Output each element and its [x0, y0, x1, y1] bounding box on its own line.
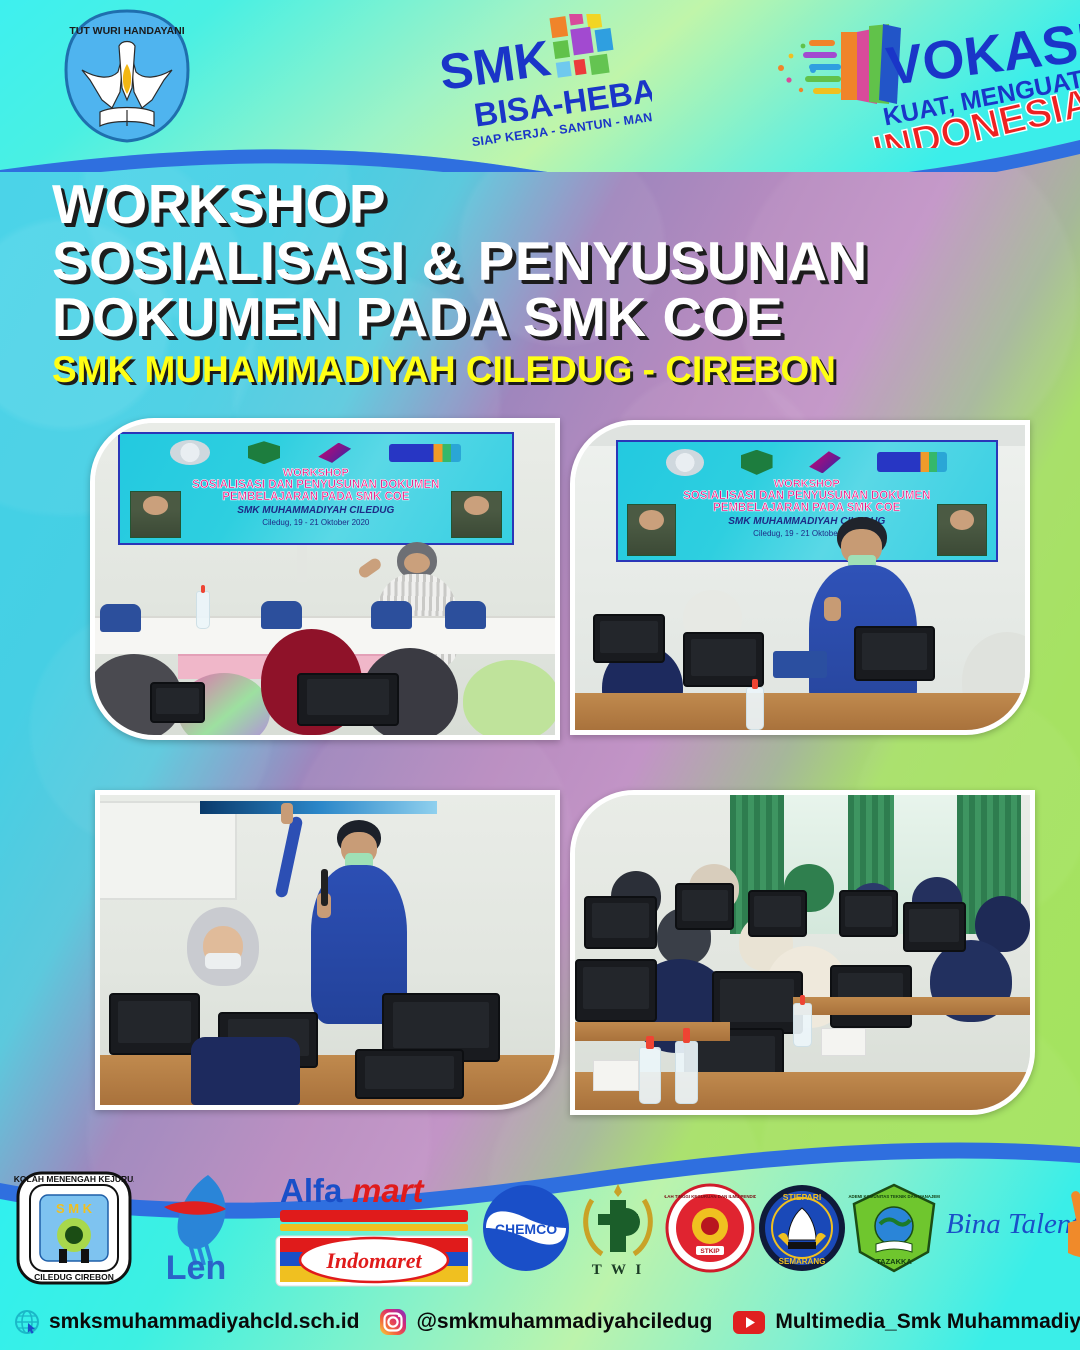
- instagram-text: @smkmuhammadiyahciledug: [416, 1310, 712, 1334]
- title-line-1: WORKSHOP: [52, 176, 952, 233]
- banner-line-1: WORKSHOP: [618, 478, 997, 490]
- sponsor-top-text: SEKOLAH MENENGAH KEJURUAN: [14, 1174, 134, 1184]
- stiepari-sub: SEMARANG: [779, 1257, 826, 1266]
- poster-title-block: WORKSHOP SOSIALISASI & PENYUSUNAN DOKUME…: [52, 176, 952, 389]
- sponsor-bottom-text: CILEDUG CIREBON: [34, 1272, 114, 1282]
- title-line-2: SOSIALISASI & PENYUSUNAN: [52, 233, 952, 290]
- sponsor-bina-talenta: Bina Talenta: [940, 1179, 1080, 1277]
- stiepari-label: STIEPARI: [783, 1192, 822, 1202]
- website-text: smksmuhammadiyahcld.sch.id: [49, 1310, 359, 1334]
- sponsor-len-label: Len: [166, 1249, 226, 1287]
- photo-3: [95, 790, 560, 1110]
- tut-wuri-handayani-icon: TUT WURI HANDAYANI: [62, 8, 192, 144]
- sponsor-tazakka: AKADEMI KOMUNITAS TEKNIK DAN MANAJEMEN T…: [848, 1182, 940, 1274]
- contact-website[interactable]: smksmuhammadiyahcld.sch.id: [14, 1309, 359, 1335]
- photo-2: WORKSHOP SOSIALISASI DAN PENYUSUNAN DOKU…: [570, 420, 1030, 735]
- banner-line-2: SOSIALISASI DAN PENYUSUNAN DOKUMEN: [120, 479, 512, 491]
- banner-line-2: SOSIALISASI DAN PENYUSUNAN DOKUMEN: [618, 490, 997, 502]
- poster-canvas: TUT WURI HANDAYANI SMK BISA-HEB: [0, 0, 1080, 1350]
- sponsor-stkip-muhammadiyah: SEKOLAH TINGGI KEGURUAN DAN ILMU PENDIDI…: [664, 1182, 756, 1274]
- contact-row: smksmuhammadiyahcld.sch.id: [0, 1300, 1080, 1344]
- photo-1-banner: WORKSHOP SOSIALISASI DAN PENYUSUNAN DOKU…: [118, 432, 514, 544]
- vokasi-indonesia-icon: VOKASI KUAT, MENGUATKAN INDONESIA: [765, 12, 1080, 148]
- tazakka-label: AKADEMI KOMUNITAS TEKNIK DAN MANAJEMEN: [848, 1194, 940, 1199]
- photo-4: [570, 790, 1035, 1115]
- sponsor-stiepari-semarang: STIEPARI SEMARANG: [756, 1182, 848, 1274]
- tut-wuri-text: TUT WURI HANDAYANI: [69, 25, 184, 37]
- tazakka-sub: TAZAKKA: [876, 1257, 912, 1266]
- title-line-3: DOKUMEN PADA SMK COE: [52, 289, 952, 346]
- alfamart-part1: Alfa: [280, 1172, 343, 1209]
- stkip-label: SEKOLAH TINGGI KEGURUAN DAN ILMU PENDIDI…: [664, 1194, 756, 1199]
- chemco-mark: ®: [562, 1219, 568, 1228]
- smk-bisa-hebat-icon: SMK BISA-HEBAT SIAP KERJA - SANTUN - MAN…: [432, 14, 652, 146]
- indomaret-label: Indomaret: [325, 1248, 422, 1273]
- sponsor-len: Len: [134, 1169, 274, 1287]
- bina-talenta-label: Bina Talenta: [946, 1208, 1080, 1240]
- header-band: TUT WURI HANDAYANI SMK BISA-HEB: [0, 0, 1080, 172]
- chemco-label: CHEMCO: [495, 1221, 557, 1237]
- alfamart-part2: mart: [352, 1172, 426, 1209]
- sponsor-twi: T W I: [572, 1178, 664, 1278]
- instagram-icon: [379, 1308, 407, 1336]
- photo-1: WORKSHOP SOSIALISASI DAN PENYUSUNAN DOKU…: [90, 418, 560, 740]
- contact-instagram[interactable]: @smkmuhammadiyahciledug: [379, 1308, 712, 1336]
- title-subtitle: SMK MUHAMMADIYAH CILEDUG - CIREBON: [52, 351, 952, 389]
- banner-line-1: WORKSHOP: [120, 467, 512, 479]
- contact-youtube[interactable]: Multimedia_Smk Muhammadiyah Ciledug Offi…: [732, 1310, 1080, 1335]
- youtube-text: Multimedia_Smk Muhammadiyah Ciledug Offi…: [775, 1310, 1080, 1334]
- globe-icon: [14, 1309, 40, 1335]
- twi-label: T W I: [592, 1262, 645, 1278]
- footer-band: SEKOLAH MENENGAH KEJURUAN S M K CILEDUG …: [0, 1135, 1080, 1350]
- sponsor-center-text: S M K: [56, 1201, 93, 1216]
- sponsor-logos-row: SEKOLAH MENENGAH KEJURUAN S M K CILEDUG …: [0, 1158, 1080, 1298]
- photo-2-banner: WORKSHOP SOSIALISASI DAN PENYUSUNAN DOKU…: [616, 440, 999, 562]
- stkip-badge: STKIP: [700, 1248, 720, 1255]
- sponsor-smk-muhammadiyah-ciledug-cirebon: SEKOLAH MENENGAH KEJURUAN S M K CILEDUG …: [14, 1169, 134, 1287]
- youtube-icon: [732, 1310, 766, 1335]
- sponsor-alfamart-indomaret: Alfa mart Indomaret: [274, 1168, 474, 1288]
- sponsor-chemco: CHEMCO ®: [480, 1182, 572, 1274]
